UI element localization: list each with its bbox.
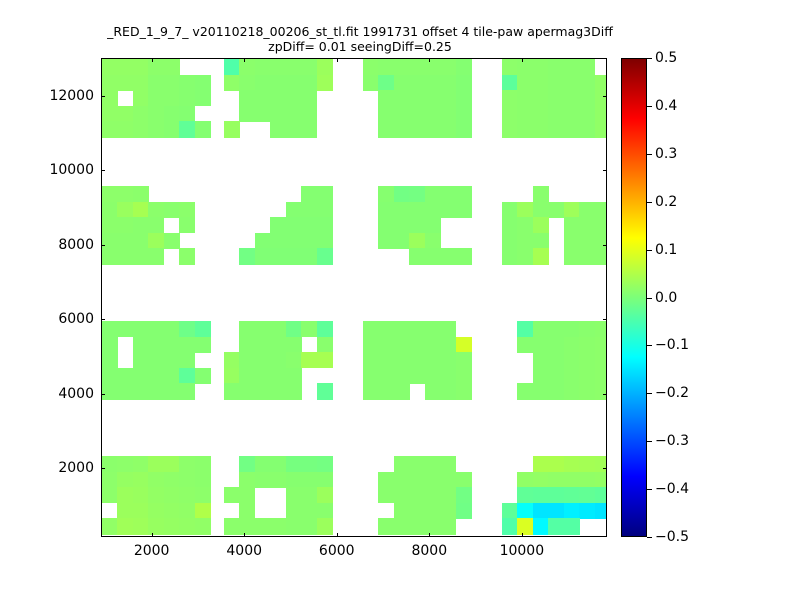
y-axis-tick-mark bbox=[101, 319, 105, 320]
x-axis-tick-mark bbox=[152, 533, 153, 537]
heatmap-cell bbox=[502, 59, 518, 75]
y-axis-tick-mark bbox=[101, 170, 105, 171]
heatmap-cell bbox=[456, 487, 472, 503]
heatmap-cell bbox=[133, 59, 149, 75]
heatmap-cell bbox=[502, 75, 518, 91]
x-axis-tick-label: 4000 bbox=[199, 543, 289, 559]
heatmap-cell bbox=[394, 337, 410, 353]
heatmap-cell bbox=[102, 321, 118, 337]
heatmap-cell bbox=[502, 106, 518, 122]
heatmap-cell bbox=[148, 368, 164, 384]
heatmap-cell bbox=[363, 352, 379, 368]
colorbar-tick-mark bbox=[647, 154, 652, 155]
heatmap-cell bbox=[440, 75, 456, 91]
x-axis-tick-label: 2000 bbox=[107, 543, 197, 559]
heatmap-cell bbox=[270, 337, 286, 353]
heatmap-cell bbox=[595, 383, 607, 399]
colorbar-tick-mark bbox=[647, 345, 652, 346]
heatmap-cell bbox=[579, 202, 595, 218]
heatmap-cell bbox=[378, 337, 394, 353]
heatmap-cell bbox=[517, 202, 533, 218]
heatmap-cell bbox=[409, 472, 425, 488]
heatmap-cell bbox=[255, 383, 271, 399]
heatmap-cell bbox=[133, 75, 149, 91]
heatmap-cell bbox=[440, 321, 456, 337]
heatmap-cell bbox=[394, 472, 410, 488]
heatmap-cell bbox=[179, 106, 195, 122]
plot-title: _RED_1_9_7_ v20110218_00206_st_tl.fit 19… bbox=[0, 24, 720, 39]
heatmap-cell bbox=[102, 352, 118, 368]
heatmap-cell bbox=[317, 337, 333, 353]
y-axis-tick-label: 6000 bbox=[0, 311, 94, 327]
heatmap-cell bbox=[533, 248, 549, 264]
heatmap-cell bbox=[579, 487, 595, 503]
heatmap-cell bbox=[456, 90, 472, 106]
x-axis-tick-mark bbox=[522, 58, 523, 62]
heatmap-cell bbox=[440, 202, 456, 218]
heatmap-cell bbox=[548, 75, 564, 91]
colorbar-tick-mark bbox=[647, 537, 652, 538]
heatmap-cell bbox=[579, 75, 595, 91]
heatmap-cell bbox=[440, 106, 456, 122]
heatmap-cell bbox=[301, 321, 317, 337]
heatmap-cell bbox=[394, 75, 410, 91]
heatmap-cell bbox=[301, 503, 317, 519]
heatmap-cell bbox=[425, 456, 441, 472]
heatmap-cell bbox=[286, 75, 302, 91]
colorbar-tick-label: −0.1 bbox=[655, 337, 689, 353]
heatmap-cell bbox=[548, 321, 564, 337]
heatmap-cell bbox=[301, 456, 317, 472]
heatmap-cell bbox=[533, 75, 549, 91]
heatmap-cell bbox=[317, 456, 333, 472]
heatmap-cell bbox=[148, 321, 164, 337]
heatmap-cell bbox=[179, 383, 195, 399]
heatmap-cell bbox=[548, 503, 564, 519]
heatmap-cell bbox=[456, 202, 472, 218]
heatmap-cell bbox=[579, 503, 595, 519]
heatmap-cell bbox=[394, 352, 410, 368]
heatmap-cell bbox=[270, 59, 286, 75]
heatmap-cell bbox=[117, 75, 133, 91]
colorbar-tick-label: 0.2 bbox=[655, 194, 677, 210]
heatmap-cell bbox=[564, 106, 580, 122]
heatmap-cell bbox=[579, 337, 595, 353]
colorbar-tick-label: 0.5 bbox=[655, 50, 677, 66]
heatmap-cell bbox=[425, 518, 441, 534]
heatmap-cell bbox=[224, 487, 240, 503]
plot-subtitle: zpDiff= 0.01 seeingDiff=0.25 bbox=[0, 39, 720, 54]
colorbar-tick-mark bbox=[647, 489, 652, 490]
heatmap-cell bbox=[409, 121, 425, 137]
y-axis-tick-label: 2000 bbox=[0, 460, 94, 476]
heatmap-cell bbox=[425, 90, 441, 106]
heatmap-cell bbox=[317, 487, 333, 503]
heatmap-cell bbox=[533, 518, 549, 534]
heatmap-cell bbox=[133, 337, 149, 353]
heatmap-cell bbox=[224, 352, 240, 368]
y-axis-tick-mark bbox=[603, 96, 607, 97]
heatmap-cell bbox=[548, 121, 564, 137]
heatmap-cell bbox=[133, 472, 149, 488]
x-axis-tick-mark bbox=[337, 58, 338, 62]
heatmap-cell bbox=[409, 321, 425, 337]
x-axis-tick-mark bbox=[429, 533, 430, 537]
heatmap-cell bbox=[548, 90, 564, 106]
heatmap-cell bbox=[564, 472, 580, 488]
heatmap-cell bbox=[286, 503, 302, 519]
heatmap-cell bbox=[301, 90, 317, 106]
heatmap-cell bbox=[301, 59, 317, 75]
heatmap-cell bbox=[179, 487, 195, 503]
heatmap-cell bbox=[409, 217, 425, 233]
heatmap-cell bbox=[102, 487, 118, 503]
heatmap-cell bbox=[133, 202, 149, 218]
heatmap-cell bbox=[517, 487, 533, 503]
heatmap-cell bbox=[164, 368, 180, 384]
heatmap-cell bbox=[595, 368, 607, 384]
heatmap-cell bbox=[394, 456, 410, 472]
x-axis-tick-label: 6000 bbox=[292, 543, 382, 559]
heatmap-cell bbox=[195, 487, 211, 503]
heatmap-cell bbox=[517, 503, 533, 519]
heatmap-cell bbox=[148, 75, 164, 91]
heatmap-cell bbox=[425, 202, 441, 218]
heatmap-cell bbox=[378, 90, 394, 106]
heatmap-cell bbox=[133, 90, 149, 106]
y-axis-tick-mark bbox=[603, 245, 607, 246]
heatmap-cell bbox=[378, 217, 394, 233]
heatmap-cell bbox=[195, 518, 211, 534]
colorbar-tick-mark bbox=[647, 250, 652, 251]
heatmap-cell bbox=[195, 121, 211, 137]
heatmap-cell bbox=[133, 233, 149, 249]
heatmap-cell bbox=[179, 456, 195, 472]
heatmap-cell bbox=[102, 383, 118, 399]
heatmap-cell bbox=[579, 59, 595, 75]
y-axis-tick-mark bbox=[603, 170, 607, 171]
heatmap-cell bbox=[363, 59, 379, 75]
heatmap-cell bbox=[533, 90, 549, 106]
heatmap-cell bbox=[533, 472, 549, 488]
heatmap-cell bbox=[456, 75, 472, 91]
heatmap-cell bbox=[548, 202, 564, 218]
heatmap-cell bbox=[409, 233, 425, 249]
heatmap-cell bbox=[394, 202, 410, 218]
heatmap-cell bbox=[456, 106, 472, 122]
heatmap-cell bbox=[179, 121, 195, 137]
heatmap-cell bbox=[286, 368, 302, 384]
heatmap-cell bbox=[425, 217, 441, 233]
heatmap-cell bbox=[224, 75, 240, 91]
x-axis-tick-mark bbox=[429, 58, 430, 62]
heatmap-cell bbox=[548, 518, 564, 534]
heatmap-cell bbox=[133, 121, 149, 137]
heatmap-cell bbox=[425, 186, 441, 202]
heatmap-cell bbox=[117, 503, 133, 519]
heatmap-cell bbox=[148, 90, 164, 106]
colorbar-tick-label: −0.4 bbox=[655, 481, 689, 497]
heatmap-cell bbox=[517, 472, 533, 488]
heatmap-cell bbox=[409, 518, 425, 534]
heatmap-cell bbox=[164, 456, 180, 472]
heatmap-cell bbox=[595, 248, 607, 264]
heatmap-cell bbox=[502, 90, 518, 106]
heatmap-cell bbox=[440, 383, 456, 399]
heatmap-cell bbox=[317, 248, 333, 264]
heatmap-cell bbox=[425, 503, 441, 519]
heatmap-cell bbox=[195, 337, 211, 353]
heatmap-cell bbox=[409, 456, 425, 472]
heatmap-cell bbox=[148, 456, 164, 472]
x-axis-tick-mark bbox=[522, 533, 523, 537]
heatmap-cell bbox=[456, 337, 472, 353]
heatmap-cell bbox=[533, 456, 549, 472]
heatmap-cell bbox=[564, 321, 580, 337]
heatmap-cell bbox=[286, 248, 302, 264]
heatmap-cell bbox=[179, 503, 195, 519]
heatmap-cell bbox=[239, 75, 255, 91]
heatmap-cell bbox=[394, 321, 410, 337]
heatmap-cell bbox=[564, 121, 580, 137]
heatmap-cell bbox=[595, 321, 607, 337]
heatmap-cell bbox=[179, 337, 195, 353]
y-axis-tick-label: 8000 bbox=[0, 237, 94, 253]
heatmap-cell bbox=[270, 121, 286, 137]
heatmap-cell bbox=[133, 106, 149, 122]
heatmap-cell bbox=[102, 368, 118, 384]
heatmap-cell bbox=[195, 321, 211, 337]
heatmap-cell bbox=[102, 337, 118, 353]
heatmap-cell bbox=[502, 518, 518, 534]
colorbar-gradient bbox=[622, 59, 646, 536]
heatmap-cell bbox=[255, 518, 271, 534]
heatmap-cell bbox=[148, 106, 164, 122]
heatmap-cell bbox=[117, 518, 133, 534]
heatmap-cell bbox=[148, 503, 164, 519]
heatmap-cell bbox=[440, 186, 456, 202]
heatmap-cell bbox=[148, 233, 164, 249]
heatmap-cell bbox=[456, 383, 472, 399]
heatmap-cell bbox=[595, 121, 607, 137]
heatmap-cell bbox=[579, 352, 595, 368]
heatmap-cell bbox=[148, 202, 164, 218]
heatmap-cell bbox=[517, 233, 533, 249]
heatmap-cell bbox=[378, 233, 394, 249]
heatmap-cell bbox=[517, 321, 533, 337]
heatmap-cell bbox=[148, 217, 164, 233]
heatmap-cell bbox=[548, 368, 564, 384]
heatmap-cell bbox=[270, 368, 286, 384]
heatmap-cell bbox=[102, 518, 118, 534]
heatmap-cell bbox=[456, 368, 472, 384]
heatmap-cell bbox=[301, 121, 317, 137]
heatmap-cell bbox=[224, 368, 240, 384]
y-axis-tick-label: 10000 bbox=[0, 162, 94, 178]
heatmap-cell bbox=[301, 202, 317, 218]
heatmap-cell bbox=[117, 121, 133, 137]
heatmap-cell bbox=[363, 321, 379, 337]
heatmap-cell bbox=[425, 248, 441, 264]
colorbar-tick-label: 0.4 bbox=[655, 98, 677, 114]
heatmap-cell bbox=[378, 75, 394, 91]
heatmap-cell bbox=[517, 383, 533, 399]
heatmap-cell bbox=[394, 518, 410, 534]
heatmap-cell bbox=[533, 186, 549, 202]
heatmap-cell bbox=[239, 352, 255, 368]
heatmap-cell bbox=[394, 121, 410, 137]
heatmap-cell bbox=[564, 59, 580, 75]
heatmap-cell bbox=[239, 321, 255, 337]
x-axis-tick-label: 8000 bbox=[384, 543, 474, 559]
heatmap-cell bbox=[317, 472, 333, 488]
heatmap-cell bbox=[378, 352, 394, 368]
heatmap-cell bbox=[270, 75, 286, 91]
heatmap-cell bbox=[595, 75, 607, 91]
heatmap-cell bbox=[425, 352, 441, 368]
heatmap-cell bbox=[286, 217, 302, 233]
heatmap-cell bbox=[286, 487, 302, 503]
heatmap-cell bbox=[164, 383, 180, 399]
heatmap-cell bbox=[255, 106, 271, 122]
heatmap-cell bbox=[517, 106, 533, 122]
y-axis-tick-mark bbox=[603, 394, 607, 395]
heatmap-cell bbox=[179, 217, 195, 233]
heatmap-cell bbox=[270, 217, 286, 233]
heatmap-cell bbox=[595, 217, 607, 233]
heatmap-cell bbox=[440, 487, 456, 503]
heatmap-cell bbox=[595, 503, 607, 519]
heatmap-cell bbox=[148, 352, 164, 368]
heatmap-cell bbox=[595, 233, 607, 249]
heatmap-cell bbox=[179, 352, 195, 368]
heatmap-cell bbox=[564, 337, 580, 353]
heatmap-cell bbox=[440, 352, 456, 368]
heatmap-cell bbox=[179, 202, 195, 218]
heatmap-cell bbox=[425, 487, 441, 503]
heatmap-cell bbox=[564, 352, 580, 368]
y-axis-tick-mark bbox=[603, 468, 607, 469]
colorbar-tick-mark bbox=[647, 202, 652, 203]
heatmap-cell bbox=[270, 90, 286, 106]
heatmap-cell bbox=[378, 121, 394, 137]
heatmap-cell bbox=[301, 352, 317, 368]
heatmap-cell bbox=[286, 456, 302, 472]
heatmap-axes[interactable] bbox=[101, 58, 607, 537]
heatmap-cell bbox=[255, 75, 271, 91]
heatmap-cell bbox=[517, 518, 533, 534]
heatmap-cell bbox=[378, 186, 394, 202]
heatmap-cell bbox=[286, 59, 302, 75]
heatmap-cell bbox=[579, 121, 595, 137]
heatmap-cell bbox=[301, 106, 317, 122]
heatmap-cell bbox=[117, 186, 133, 202]
heatmap-cell bbox=[102, 456, 118, 472]
heatmap-cell bbox=[117, 383, 133, 399]
heatmap-cell bbox=[148, 337, 164, 353]
figure-canvas: _RED_1_9_7_ v20110218_00206_st_tl.fit 19… bbox=[0, 0, 800, 600]
heatmap-cell bbox=[425, 233, 441, 249]
heatmap-cell bbox=[378, 202, 394, 218]
heatmap-cell bbox=[255, 368, 271, 384]
heatmap-cell bbox=[564, 487, 580, 503]
heatmap-cell bbox=[440, 248, 456, 264]
heatmap-cell bbox=[378, 106, 394, 122]
heatmap-cell bbox=[102, 202, 118, 218]
heatmap-cell bbox=[317, 217, 333, 233]
heatmap-cell bbox=[164, 321, 180, 337]
heatmap-cell bbox=[239, 59, 255, 75]
heatmap-cell bbox=[533, 503, 549, 519]
heatmap-cell bbox=[286, 202, 302, 218]
heatmap-cell bbox=[517, 217, 533, 233]
heatmap-cell bbox=[425, 337, 441, 353]
heatmap-cell bbox=[440, 518, 456, 534]
heatmap-cell bbox=[564, 383, 580, 399]
heatmap-cell bbox=[564, 456, 580, 472]
heatmap-cell bbox=[425, 368, 441, 384]
heatmap-cell bbox=[301, 248, 317, 264]
heatmap-cell bbox=[456, 59, 472, 75]
heatmap-cell bbox=[133, 217, 149, 233]
heatmap-cell bbox=[255, 456, 271, 472]
heatmap-cell bbox=[595, 472, 607, 488]
heatmap-cell bbox=[363, 383, 379, 399]
x-axis-tick-mark bbox=[337, 533, 338, 537]
colorbar-tick-label: 0.1 bbox=[655, 242, 677, 258]
heatmap-cell bbox=[117, 321, 133, 337]
heatmap-cell bbox=[409, 248, 425, 264]
heatmap-cell bbox=[117, 217, 133, 233]
heatmap-cell bbox=[548, 456, 564, 472]
heatmap-cell bbox=[148, 121, 164, 137]
heatmap-cell bbox=[255, 90, 271, 106]
heatmap-cell bbox=[409, 106, 425, 122]
heatmap-cell bbox=[255, 59, 271, 75]
heatmap-cell bbox=[195, 75, 211, 91]
heatmap-cell bbox=[548, 472, 564, 488]
heatmap-cell bbox=[286, 321, 302, 337]
heatmap-cell bbox=[409, 202, 425, 218]
y-axis-tick-mark bbox=[101, 394, 105, 395]
heatmap-cell bbox=[425, 121, 441, 137]
colorbar[interactable] bbox=[621, 58, 647, 537]
heatmap-cell bbox=[409, 352, 425, 368]
heatmap-cell bbox=[517, 90, 533, 106]
heatmap-cell bbox=[425, 383, 441, 399]
heatmap-cell bbox=[133, 248, 149, 264]
heatmap-cell bbox=[224, 383, 240, 399]
heatmap-cell bbox=[239, 456, 255, 472]
heatmap-cell bbox=[564, 503, 580, 519]
heatmap-cell bbox=[179, 472, 195, 488]
y-axis-tick-mark bbox=[101, 245, 105, 246]
heatmap-cell bbox=[102, 75, 118, 91]
heatmap-cell bbox=[595, 202, 607, 218]
heatmap-cell bbox=[595, 106, 607, 122]
heatmap-cell bbox=[317, 233, 333, 249]
heatmap-cell bbox=[409, 337, 425, 353]
heatmap-cell bbox=[270, 248, 286, 264]
heatmap-cell bbox=[164, 503, 180, 519]
heatmap-cell bbox=[102, 59, 118, 75]
heatmap-cell bbox=[548, 383, 564, 399]
heatmap-cell bbox=[270, 472, 286, 488]
heatmap-cell bbox=[179, 321, 195, 337]
heatmap-cell bbox=[394, 217, 410, 233]
colorbar-tick-mark bbox=[647, 393, 652, 394]
heatmap-cell bbox=[595, 352, 607, 368]
